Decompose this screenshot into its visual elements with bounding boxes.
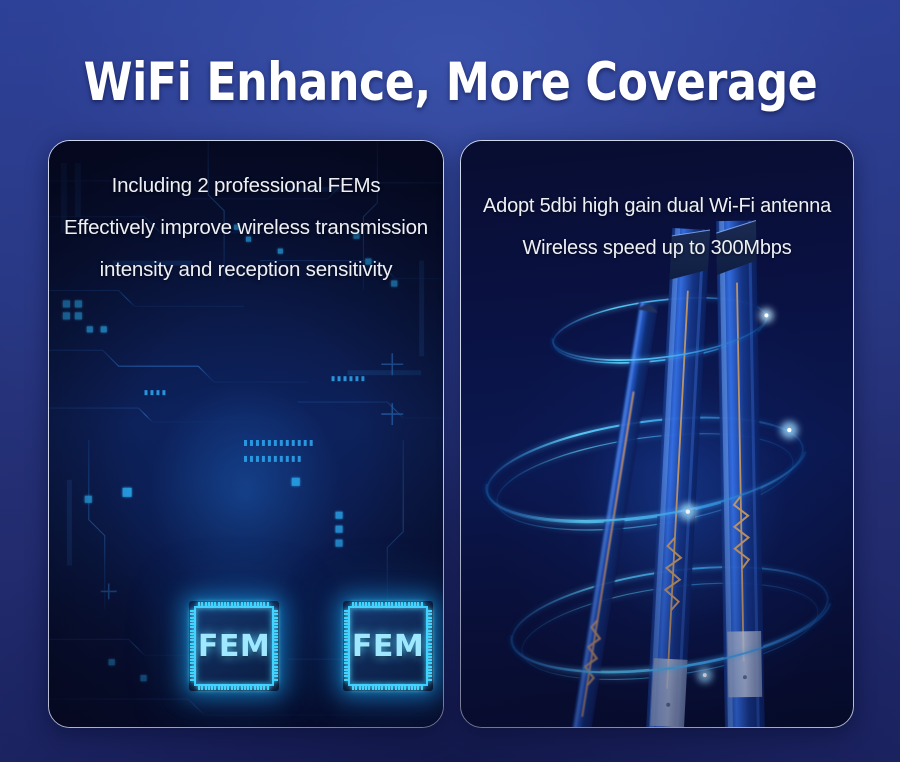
antenna-card-inner: Adopt 5dbi high gain dual Wi-Fi antenna … [461,141,853,727]
fem-chip-2-label: FEM [343,601,433,691]
antenna-card-line-2: Wireless speed up to 300Mbps [475,227,839,269]
fem-card-line-2: Effectively improve wireless transmissio… [63,207,429,249]
fem-chip-2: FEM [343,601,433,691]
page-title-container: WiFi Enhance, More Coverage [0,52,900,114]
fem-chip-1: FEM [189,601,279,691]
antenna-feature-card: Adopt 5dbi high gain dual Wi-Fi antenna … [460,140,854,728]
fem-card-inner: FEM FEM Including 2 professional FEMs Ef… [49,141,443,727]
fem-card-line-1: Including 2 professional FEMs [63,165,429,207]
antenna-card-line-1: Adopt 5dbi high gain dual Wi-Fi antenna [475,185,839,227]
fem-card-line-3: intensity and reception sensitivity [63,249,429,291]
fem-feature-card: FEM FEM Including 2 professional FEMs Ef… [48,140,444,728]
promo-banner: WiFi Enhance, More Coverage [0,0,900,762]
fem-card-text: Including 2 professional FEMs Effectivel… [49,141,443,291]
page-title: WiFi Enhance, More Coverage [83,52,817,114]
fem-chip-1-label: FEM [189,601,279,691]
antenna-card-text: Adopt 5dbi high gain dual Wi-Fi antenna … [461,141,853,269]
